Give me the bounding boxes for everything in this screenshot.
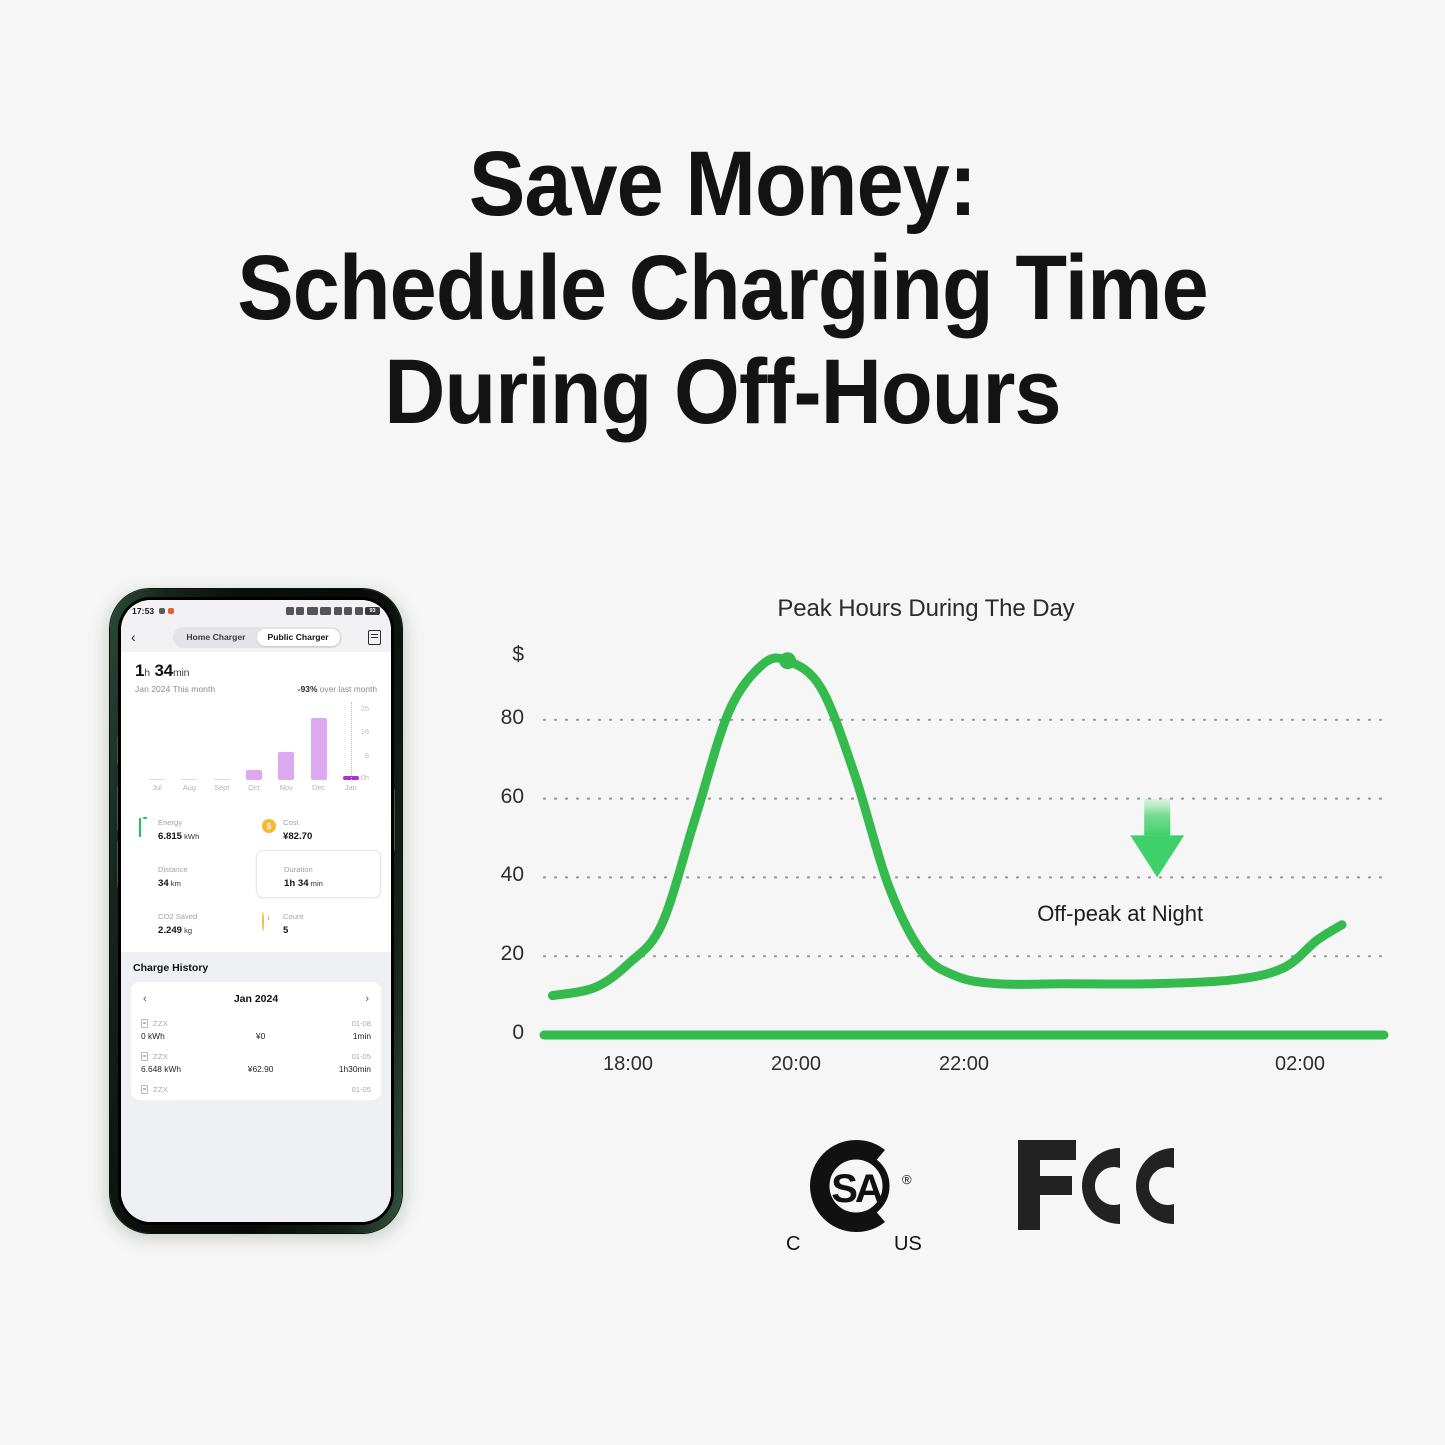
bar-label-jan: Jan bbox=[345, 783, 357, 792]
stat-unit: min bbox=[309, 879, 323, 888]
y-tick-20: 20 bbox=[476, 942, 524, 966]
summary-change: -93% over last month bbox=[298, 684, 377, 694]
price-curve bbox=[552, 658, 1342, 996]
bar-label-dec: Dec bbox=[312, 783, 325, 792]
y-tick-80: 80 bbox=[476, 706, 524, 730]
hd-icon bbox=[320, 607, 331, 615]
stat-label: Count bbox=[283, 912, 303, 921]
stat-card-co2-saved[interactable]: CO2 Saved2.249 kg bbox=[131, 898, 256, 944]
x-tick-2000: 20:00 bbox=[741, 1053, 851, 1076]
summary-month: Jan 2024 bbox=[135, 684, 170, 694]
charge-history-title: Charge History bbox=[133, 962, 379, 974]
timer-icon bbox=[262, 913, 277, 928]
total-duration: 1h 34min bbox=[135, 661, 377, 681]
phone-frame: 17:53 93 bbox=[110, 589, 402, 1233]
back-chevron-icon[interactable]: ‹ bbox=[131, 630, 147, 644]
cert-svg: SA ® C US bbox=[760, 1118, 1180, 1258]
stat-number: 5 bbox=[283, 925, 288, 936]
list-item[interactable]: ZZX01-080 kWh¥01min bbox=[141, 1014, 371, 1047]
stat-row: Distance34 kmDuration1h 34 min bbox=[131, 850, 381, 898]
charge-history-section: Charge History ‹ Jan 2024 › ZZX01-080 kW… bbox=[121, 952, 391, 1222]
charge-cost: ¥62.90 bbox=[224, 1064, 298, 1074]
message-icon bbox=[159, 608, 165, 614]
x-tick-0200: 02:00 bbox=[1245, 1053, 1355, 1076]
chart-gridlines bbox=[544, 720, 1384, 956]
prev-month-chevron-icon[interactable]: ‹ bbox=[143, 993, 147, 1005]
signal-sim1-icon bbox=[334, 607, 342, 615]
bar-y-label-0: 0h bbox=[361, 773, 369, 782]
selected-month: Jan 2024 bbox=[234, 993, 278, 1005]
signal-sim2-icon bbox=[344, 607, 352, 615]
bar-dec bbox=[311, 718, 327, 780]
tab-public-charger[interactable]: Public Charger bbox=[257, 629, 340, 646]
bar-column: Dec bbox=[311, 706, 327, 780]
svg-text:SA: SA bbox=[831, 1167, 883, 1211]
charge-history-list: ZZX01-080 kWh¥01minZZX01-056.648 kWh¥62.… bbox=[141, 1014, 371, 1100]
stat-number: 1h 34 bbox=[284, 878, 309, 889]
duration-minutes-unit: min bbox=[173, 667, 189, 679]
history-item-header: ZZX01-08 bbox=[141, 1019, 371, 1028]
bar-oct bbox=[246, 770, 262, 780]
leaf-icon bbox=[137, 913, 152, 928]
off-peak-arrow-icon bbox=[1130, 799, 1184, 878]
clock-icon bbox=[263, 866, 278, 881]
y-tick-60: 60 bbox=[476, 785, 524, 809]
off-peak-annotation: Off-peak at Night bbox=[1037, 901, 1203, 927]
timer-icon-glyph bbox=[262, 912, 264, 931]
app-nav-bar: ‹ Home Charger Public Charger bbox=[121, 622, 391, 652]
stat-text: Count5 bbox=[283, 905, 303, 937]
stat-text: Energy6.815 kWh bbox=[158, 811, 199, 843]
stat-text: Distance34 km bbox=[158, 858, 188, 890]
bar-y-label-25: 25 bbox=[361, 704, 369, 713]
stat-unit: kWh bbox=[182, 832, 199, 841]
month-selector: ‹ Jan 2024 › bbox=[141, 990, 371, 1014]
charger-icon bbox=[141, 1019, 148, 1028]
charge-duration: 1min bbox=[297, 1031, 371, 1041]
svg-text:®: ® bbox=[902, 1172, 912, 1187]
headline-line-2: Schedule Charging Time bbox=[58, 236, 1387, 340]
duration-hours: 1 bbox=[135, 661, 144, 680]
bar-label-nov: Nov bbox=[280, 783, 293, 792]
stat-value: 6.815 kWh bbox=[158, 831, 199, 843]
charger-name: ZZX bbox=[153, 1052, 168, 1061]
bar-y-label-16: 16 bbox=[361, 727, 369, 736]
data-speed-icon bbox=[307, 607, 318, 615]
peak-marker bbox=[779, 652, 796, 669]
status-right-icons: 93 bbox=[286, 607, 381, 615]
stat-card-cost[interactable]: $Cost¥82.70 bbox=[256, 804, 381, 850]
coin-icon-glyph: $ bbox=[262, 819, 276, 833]
summary-section: 1h 34min Jan 2024 This month -93% over l… bbox=[121, 652, 391, 800]
charge-date: 01-05 bbox=[352, 1085, 371, 1094]
stat-card-distance[interactable]: Distance34 km bbox=[131, 850, 256, 898]
bar-column: Oct bbox=[246, 706, 262, 780]
bar-label-aug: Aug bbox=[183, 783, 196, 792]
history-item-values: 6.648 kWh¥62.901h30min bbox=[141, 1064, 371, 1074]
monthly-bar-chart: JulAugSeptOctNovDecJan 25 16 8 0h bbox=[135, 700, 375, 800]
bar-aug bbox=[181, 779, 197, 781]
app-notification-icon bbox=[168, 608, 174, 614]
stat-card-duration[interactable]: Duration1h 34 min bbox=[256, 850, 381, 898]
y-tick-0: 0 bbox=[476, 1021, 524, 1045]
mute-icon bbox=[296, 607, 304, 615]
history-item-values: 0 kWh¥01min bbox=[141, 1031, 371, 1041]
history-item-header: ZZX01-05 bbox=[141, 1085, 371, 1094]
stat-number: 34 bbox=[158, 878, 169, 889]
status-bar: 17:53 93 bbox=[121, 600, 391, 622]
stat-value: 34 km bbox=[158, 878, 188, 890]
chart-canvas bbox=[476, 583, 1396, 1103]
csa-logo: SA ® C US bbox=[786, 1140, 922, 1255]
stat-text: Cost¥82.70 bbox=[283, 811, 312, 843]
stat-number: 6.815 bbox=[158, 831, 182, 842]
stat-row: CO2 Saved2.249 kgCount5 bbox=[131, 898, 381, 944]
peak-hours-chart: Peak Hours During The Day $020406080 18:… bbox=[476, 583, 1396, 1103]
duration-hours-unit: h bbox=[144, 667, 150, 679]
stat-cards: Energy6.815 kWh$Cost¥82.70Distance34 kmD… bbox=[121, 800, 391, 952]
next-month-chevron-icon[interactable]: › bbox=[365, 993, 369, 1005]
charge-date: 01-05 bbox=[352, 1052, 371, 1061]
headline-line-1: Save Money: bbox=[58, 132, 1387, 236]
location-pin-icon bbox=[137, 866, 152, 881]
stat-value: 1h 34 min bbox=[284, 878, 323, 890]
bar-label-jul: Jul bbox=[152, 783, 161, 792]
charger-icon bbox=[141, 1052, 148, 1061]
battery-status-icon: 93 bbox=[365, 607, 380, 615]
bar-column: Jul bbox=[149, 706, 165, 780]
current-month-indicator bbox=[351, 702, 352, 780]
stat-number: ¥82.70 bbox=[283, 831, 312, 842]
summary-period: Jan 2024 This month bbox=[135, 684, 215, 694]
phone-screen: 17:53 93 bbox=[121, 600, 391, 1222]
stat-label: Distance bbox=[158, 865, 188, 874]
document-icon[interactable] bbox=[368, 630, 381, 645]
charge-date: 01-08 bbox=[352, 1019, 371, 1028]
charge-duration: 1h30min bbox=[297, 1064, 371, 1074]
bar-label-oct: Oct bbox=[248, 783, 260, 792]
charge-energy: 6.648 kWh bbox=[141, 1064, 224, 1074]
stat-number: 2.249 bbox=[158, 925, 182, 936]
bar-label-sept: Sept bbox=[214, 783, 229, 792]
duration-minutes: 34 bbox=[154, 661, 173, 680]
stat-card-energy[interactable]: Energy6.815 kWh bbox=[131, 804, 256, 850]
tab-home-charger[interactable]: Home Charger bbox=[175, 629, 256, 646]
charger-icon bbox=[141, 1085, 148, 1094]
x-tick-2200: 22:00 bbox=[909, 1053, 1019, 1076]
change-note: over last month bbox=[320, 684, 377, 694]
battery-icon bbox=[137, 819, 152, 834]
stat-card-count[interactable]: Count5 bbox=[256, 898, 381, 944]
headline-line-3: During Off-Hours bbox=[58, 340, 1387, 444]
page-title: Save Money: Schedule Charging Time Durin… bbox=[58, 132, 1387, 444]
phone-bezel: 17:53 93 bbox=[118, 597, 394, 1225]
list-item[interactable]: ZZX01-056.648 kWh¥62.901h30min bbox=[141, 1047, 371, 1080]
charge-history-card: ‹ Jan 2024 › ZZX01-080 kWh¥01minZZX01-05… bbox=[131, 982, 381, 1100]
charger-type-segmented-control[interactable]: Home Charger Public Charger bbox=[173, 627, 341, 648]
summary-period-note: This month bbox=[173, 684, 216, 694]
bar-chart-plot: JulAugSeptOctNovDecJan bbox=[141, 706, 331, 780]
stat-value: 2.249 kg bbox=[158, 925, 197, 937]
wifi-icon bbox=[355, 607, 363, 615]
stat-unit: km bbox=[169, 879, 181, 888]
certification-logos: SA ® C US bbox=[760, 1118, 1180, 1258]
charge-energy: 0 kWh bbox=[141, 1031, 224, 1041]
history-item-header: ZZX01-05 bbox=[141, 1052, 371, 1061]
bar-jul bbox=[149, 779, 165, 781]
stat-unit: kg bbox=[182, 926, 192, 935]
stat-label: Duration bbox=[284, 865, 313, 874]
stat-value: ¥82.70 bbox=[283, 831, 312, 843]
battery-icon-glyph bbox=[139, 818, 141, 837]
csa-mark-c: C bbox=[786, 1233, 800, 1255]
change-percent: -93% bbox=[298, 684, 318, 694]
fcc-logo bbox=[1018, 1140, 1174, 1230]
summary-subrow: Jan 2024 This month -93% over last month bbox=[135, 684, 377, 694]
shield-icon bbox=[286, 607, 294, 615]
phone-mockup: 17:53 93 bbox=[100, 583, 412, 1243]
stat-label: CO2 Saved bbox=[158, 912, 197, 921]
y-tick-40: 40 bbox=[476, 863, 524, 887]
coin-icon: $ bbox=[262, 819, 277, 834]
bar-column: Nov bbox=[278, 706, 294, 780]
charge-cost: ¥0 bbox=[224, 1031, 298, 1041]
stat-value: 5 bbox=[283, 925, 303, 937]
stat-text: CO2 Saved2.249 kg bbox=[158, 905, 197, 937]
stat-label: Energy bbox=[158, 818, 182, 827]
bar-y-label-8: 8 bbox=[365, 751, 369, 760]
list-item[interactable]: ZZX01-05 bbox=[141, 1080, 371, 1100]
bar-sept bbox=[214, 779, 230, 781]
status-time: 17:53 bbox=[132, 606, 154, 616]
charger-name: ZZX bbox=[153, 1019, 168, 1028]
bar-column: Sept bbox=[214, 706, 230, 780]
stat-label: Cost bbox=[283, 818, 299, 827]
stat-row: Energy6.815 kWh$Cost¥82.70 bbox=[131, 804, 381, 850]
csa-mark-us: US bbox=[894, 1233, 922, 1255]
bar-nov bbox=[278, 752, 294, 780]
y-axis-currency-symbol: $ bbox=[476, 643, 524, 667]
charger-name: ZZX bbox=[153, 1085, 168, 1094]
stat-text: Duration1h 34 min bbox=[284, 858, 323, 890]
bar-column: Aug bbox=[181, 706, 197, 780]
x-tick-1800: 18:00 bbox=[573, 1053, 683, 1076]
status-left-icons bbox=[159, 608, 174, 614]
